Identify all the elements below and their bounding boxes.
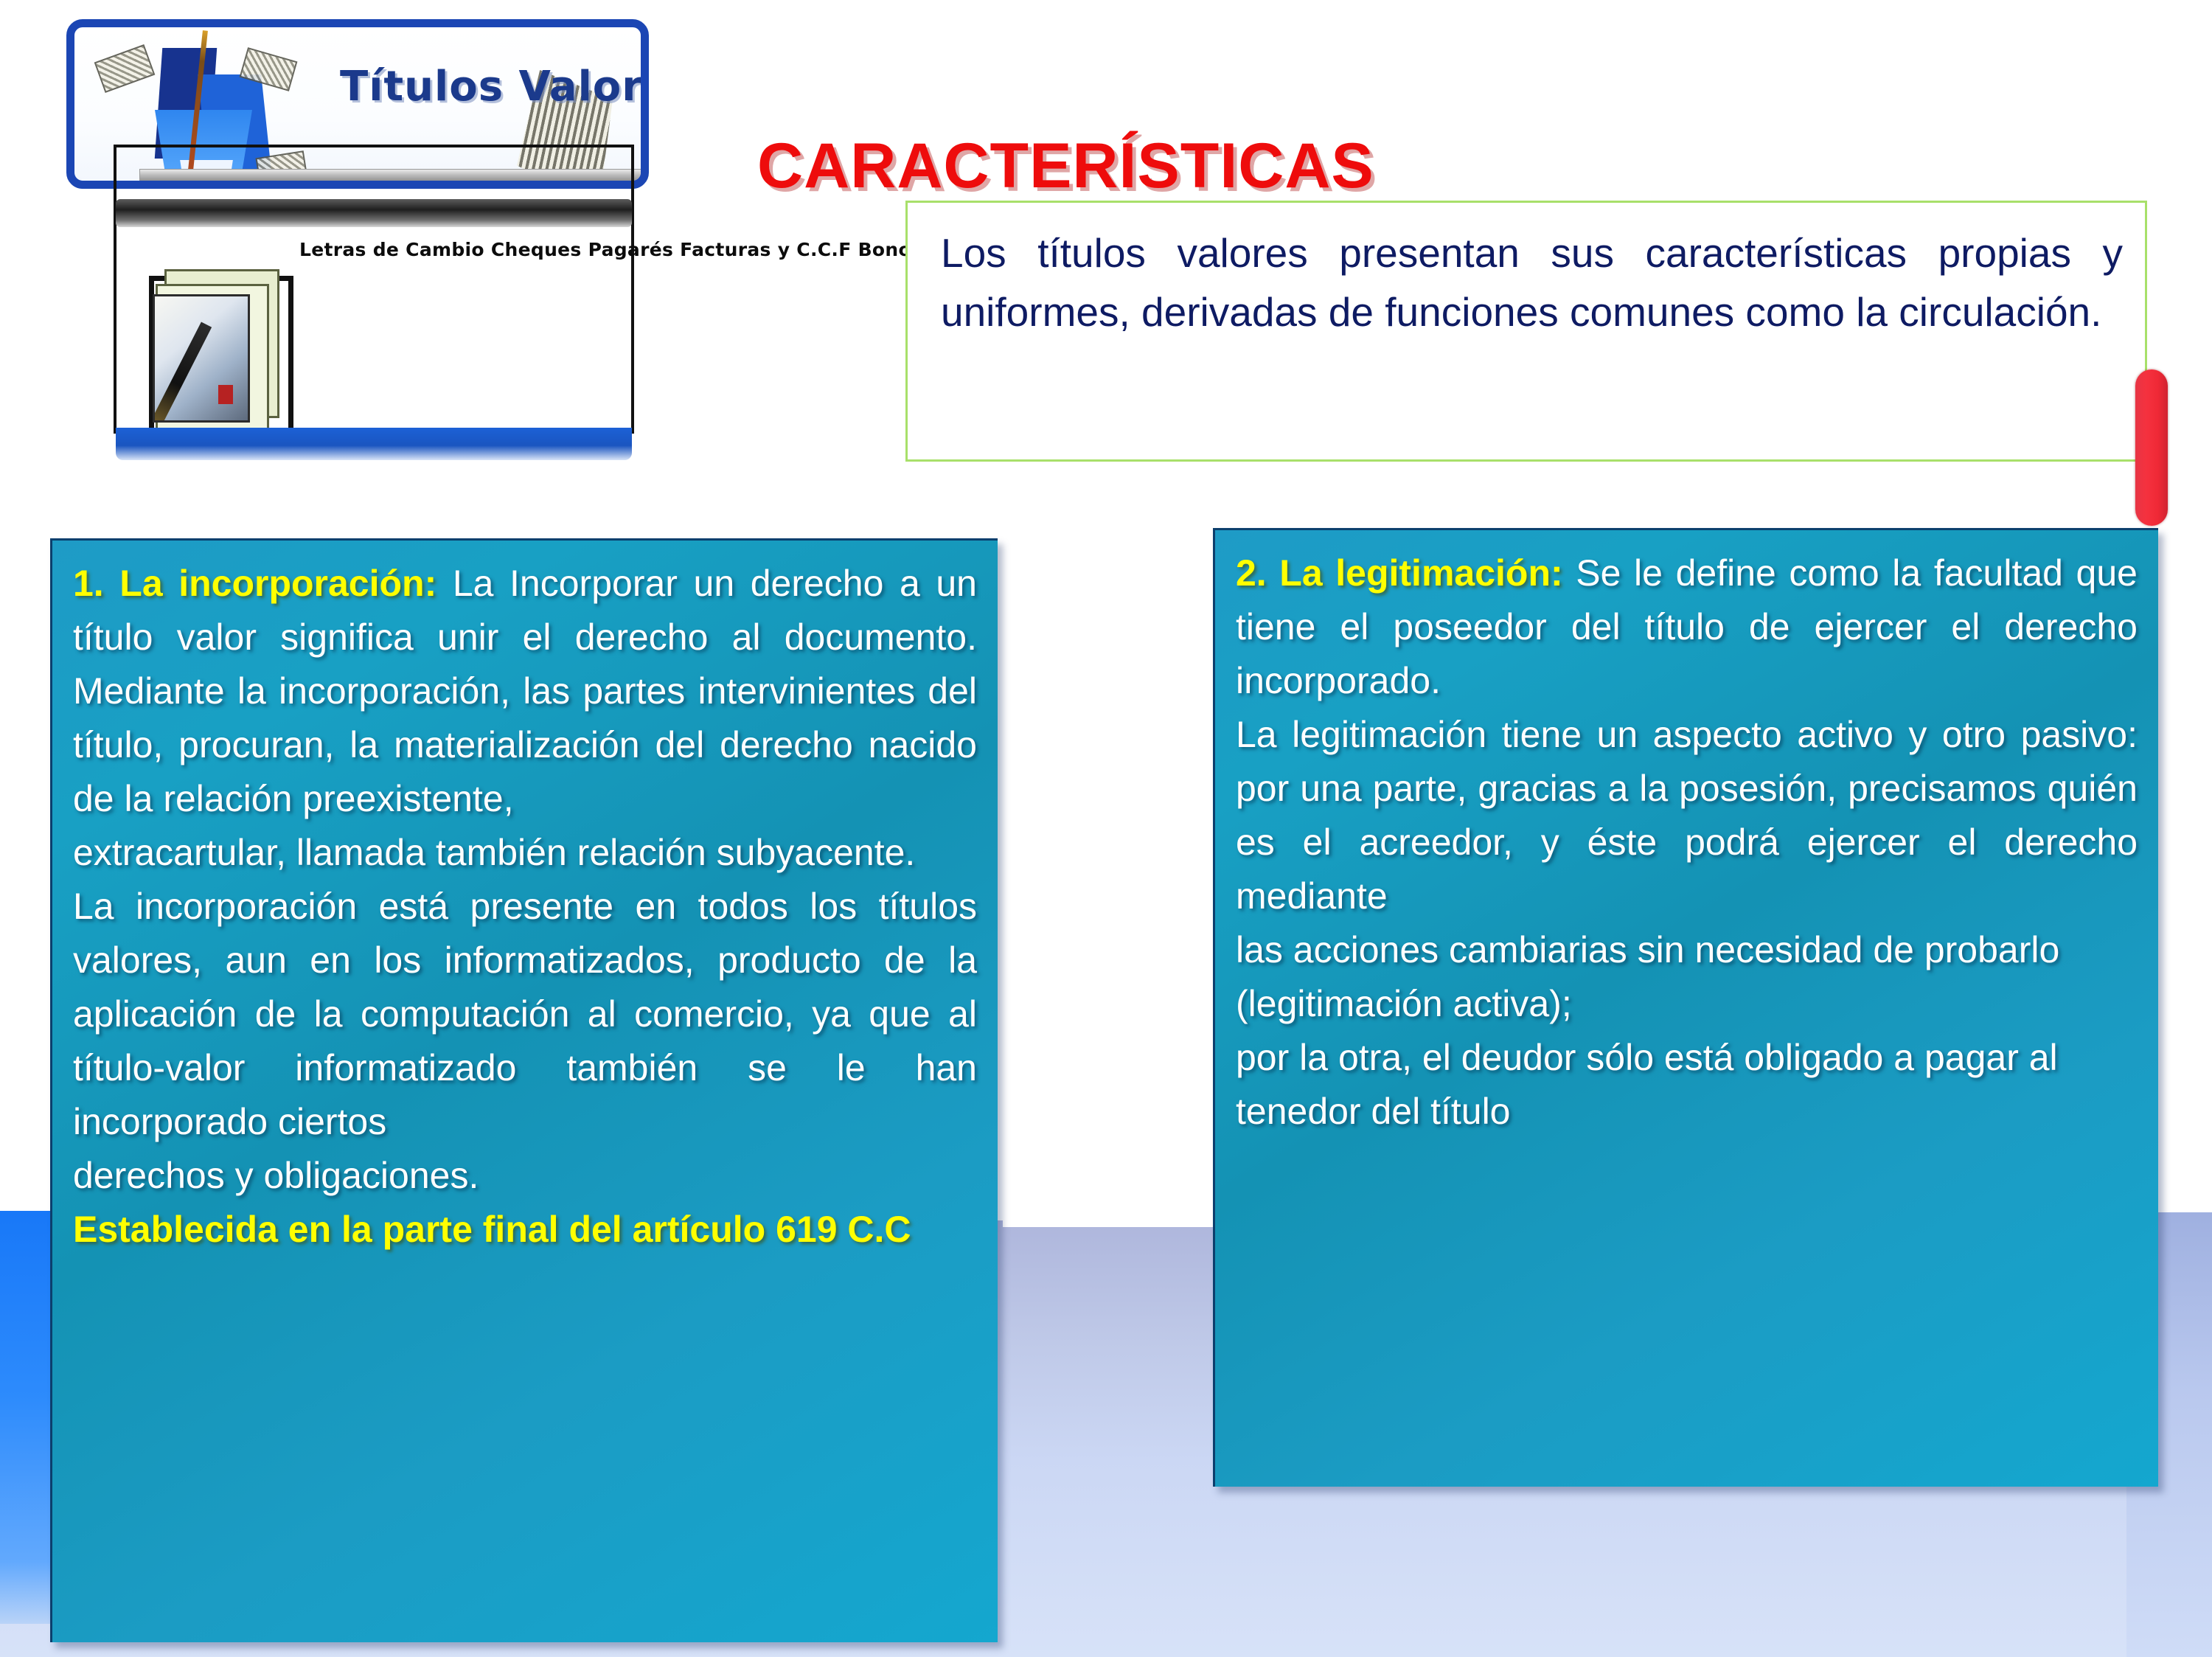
- card-paragraph: 1. La incorporación: La Incorporar un de…: [73, 557, 977, 826]
- page-title: CARACTERÍSTICAS: [757, 130, 1374, 203]
- image-divider-bar: [139, 169, 649, 182]
- card-paragraph: las acciones cambiarias sin necesidad de…: [1236, 923, 2138, 1031]
- intro-paragraph: Los títulos valores presentan sus caract…: [941, 223, 2123, 341]
- card-paragraph: extracartular, llamada también relación …: [73, 826, 977, 880]
- image-base-bar: [116, 428, 632, 460]
- card-paragraph: por la otra, el deudor sólo está obligad…: [1236, 1031, 2138, 1139]
- characteristic-card-legitimacion: 2. La legitimación: Se le define como la…: [1213, 528, 2158, 1487]
- image-banner-plate: Títulos Valores: [66, 19, 649, 189]
- titulos-valores-image: Títulos Valores Letras de Cambio Cheques…: [46, 6, 665, 470]
- documents-illustration: [149, 276, 293, 441]
- card-highlight-note: Establecida en la parte final del artícu…: [73, 1203, 977, 1257]
- background-white-notch: [1003, 1168, 1217, 1227]
- red-accent-bar: [2135, 369, 2168, 526]
- card-heading: 2. La legitimación:: [1236, 552, 1563, 594]
- card-paragraph: 2. La legitimación: Se le define como la…: [1236, 546, 2138, 708]
- card-paragraph: La legitimación tiene un aspecto activo …: [1236, 708, 2138, 923]
- card-paragraph: La incorporación está presente en todos …: [73, 880, 977, 1149]
- intro-text-box: Los títulos valores presentan sus caract…: [905, 201, 2147, 462]
- card-paragraph: derechos y obligaciones.: [73, 1149, 977, 1203]
- card-heading: 1. La incorporación:: [73, 563, 437, 604]
- image-roller-bar: [116, 199, 632, 227]
- image-banner-title: Títulos Valores: [340, 63, 649, 111]
- characteristic-card-incorporacion: 1. La incorporación: La Incorporar un de…: [50, 538, 998, 1642]
